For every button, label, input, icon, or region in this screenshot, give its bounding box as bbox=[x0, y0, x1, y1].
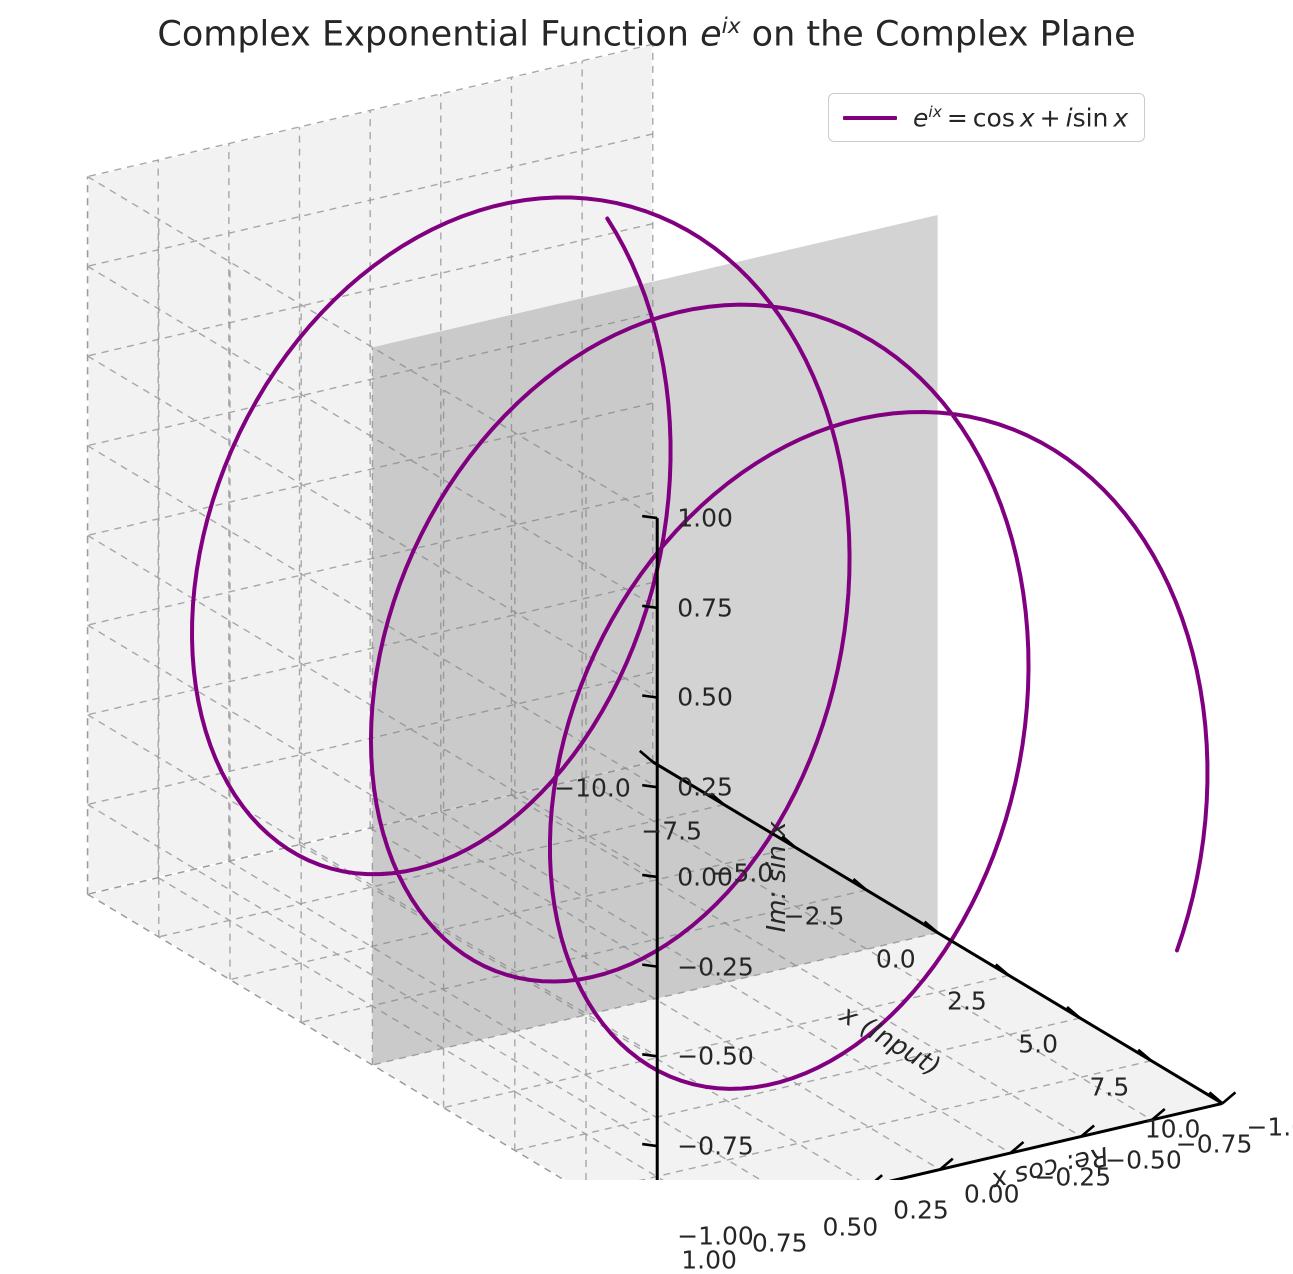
page-title: Complex Exponential Function eix on the … bbox=[0, 14, 1293, 55]
z-axis-label: Im: sin x bbox=[762, 821, 792, 932]
x-tick-label-4: 0.0 bbox=[876, 944, 916, 973]
y-tick-mark bbox=[1222, 1092, 1235, 1103]
y-tick-label-8: −1.00 bbox=[1246, 1113, 1293, 1142]
legend[interactable]: eix = cos x + isin x bbox=[828, 93, 1145, 142]
y-tick-label-1: 0.75 bbox=[752, 1229, 808, 1258]
figure-canvas: Complex Exponential Function eix on the … bbox=[0, 0, 1293, 1180]
z-tick-label-4: 0.00 bbox=[677, 862, 733, 891]
z-tick-label-8: −1.00 bbox=[677, 1221, 754, 1250]
y-tick-label-2: 0.50 bbox=[823, 1212, 879, 1241]
x-tick-label-0: −10.0 bbox=[554, 773, 631, 802]
z-tick-label-7: −0.75 bbox=[677, 1132, 754, 1161]
x-tick-label-1: −7.5 bbox=[641, 816, 702, 845]
legend-line-swatch bbox=[843, 116, 897, 120]
z-tick-label-6: −0.50 bbox=[677, 1042, 754, 1071]
z-tick-label-5: −0.25 bbox=[677, 952, 754, 981]
complex-plane-at-x0 bbox=[372, 215, 937, 1065]
z-tick-label-0: 1.00 bbox=[677, 504, 733, 533]
title-math-base: e bbox=[700, 15, 722, 55]
z-tick-label-3: 0.25 bbox=[677, 773, 733, 802]
title-suffix: on the Complex Plane bbox=[741, 15, 1136, 55]
legend-entry-label: eix = cos x + isin x bbox=[913, 103, 1128, 132]
x-tick-label-7: 7.5 bbox=[1089, 1072, 1129, 1101]
x-tick-label-3: −2.5 bbox=[784, 901, 845, 930]
z-tick-label-1: 0.75 bbox=[677, 593, 733, 622]
y-tick-label-6: −0.50 bbox=[1105, 1146, 1182, 1175]
y-tick-label-3: 0.25 bbox=[893, 1196, 949, 1225]
title-math-exponent: ix bbox=[722, 14, 741, 39]
plot-3d-svg bbox=[0, 0, 1293, 1180]
x-tick-label-6: 5.0 bbox=[1018, 1030, 1058, 1059]
title-prefix: Complex Exponential Function bbox=[157, 15, 700, 55]
y-tick-label-7: −0.75 bbox=[1176, 1129, 1253, 1158]
z-tick-label-2: 0.50 bbox=[677, 683, 733, 712]
x-tick-label-5: 2.5 bbox=[947, 987, 987, 1016]
